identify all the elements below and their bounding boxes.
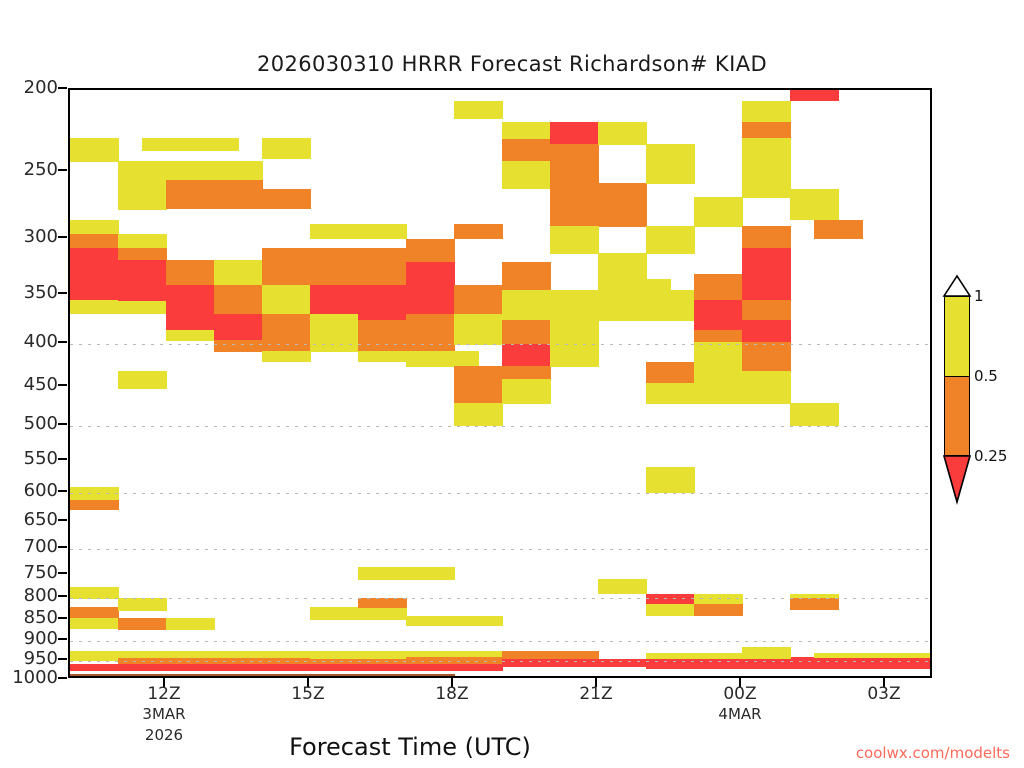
colorbar[interactable]: 10.50.25 — [944, 296, 970, 456]
y-axis-tick-label: 900 — [0, 628, 58, 649]
heatmap-cell — [310, 285, 359, 315]
heatmap-cell — [502, 122, 551, 139]
y-axis-tick — [58, 458, 67, 460]
y-axis-tick — [58, 546, 67, 548]
x-axis-tick-label: 03Z — [867, 684, 900, 704]
x-axis-tick-label: 15Z — [291, 684, 324, 704]
x-axis-date-label: 4MAR — [718, 705, 761, 723]
heatmap-cell — [406, 239, 455, 263]
heatmap-cell — [118, 161, 167, 210]
colorbar-segment — [944, 296, 970, 376]
heatmap-cell — [646, 144, 695, 183]
heatmap-cell — [166, 285, 215, 331]
colorbar-tick-label: 0.25 — [974, 447, 1007, 465]
heatmap-cell — [742, 342, 791, 371]
heatmap-cells — [70, 90, 930, 676]
heatmap-cell — [262, 248, 359, 285]
heatmap-cell — [502, 262, 551, 290]
heatmap-cell — [694, 604, 743, 616]
heatmap-cell — [118, 234, 167, 249]
heatmap-cell — [550, 144, 599, 183]
heatmap-cell — [502, 320, 551, 344]
heatmap-cell — [70, 248, 119, 301]
heatmap-cell — [406, 616, 503, 626]
y-axis-tick-label: 550 — [0, 448, 58, 469]
y-axis-tick — [58, 638, 67, 640]
y-axis-tick-label: 350 — [0, 282, 58, 303]
heatmap-cell — [502, 138, 551, 162]
heatmap-cell — [70, 220, 119, 234]
heatmap-cell — [214, 260, 263, 285]
colorbar-tick-label: 0.5 — [974, 367, 998, 385]
heatmap-cell — [502, 366, 551, 379]
heatmap-cell — [646, 653, 791, 658]
heatmap-cell — [118, 260, 167, 301]
y-axis-tick-label: 600 — [0, 480, 58, 501]
heatmap-cell — [742, 226, 791, 249]
heatmap-cell — [358, 320, 407, 351]
y-axis-tick-label: 200 — [0, 77, 58, 98]
y-axis-tick-label: 500 — [0, 413, 58, 434]
heatmap-cell — [454, 403, 503, 426]
heatmap-cell — [262, 189, 311, 209]
heatmap-cell — [598, 122, 647, 145]
heatmap-cell — [70, 300, 167, 314]
heatmap-cell — [790, 88, 839, 101]
y-axis-tick — [58, 572, 67, 574]
heatmap-cell — [502, 344, 551, 367]
heatmap-cell — [694, 330, 743, 343]
heatmap-cell — [310, 314, 359, 352]
heatmap-cell — [694, 300, 743, 330]
heatmap-cell — [694, 274, 743, 301]
heatmap-cell — [214, 285, 263, 315]
heatmap-cell — [406, 351, 479, 366]
y-axis-tick — [58, 169, 67, 171]
heatmap-cell — [742, 320, 791, 342]
heatmap-cell — [166, 179, 263, 209]
y-axis-tick — [58, 341, 67, 343]
heatmap-cell — [646, 467, 695, 493]
y-axis-tick-label: 250 — [0, 159, 58, 180]
heatmap-cell — [790, 189, 839, 220]
heatmap-cell — [214, 314, 263, 341]
terrain-surface — [454, 676, 647, 678]
y-axis-tick-label: 700 — [0, 536, 58, 557]
y-axis-tick — [58, 677, 67, 679]
heatmap-cell — [358, 285, 407, 321]
x-axis-tick-label: 18Z — [435, 684, 468, 704]
x-axis-date-label: 3MAR — [142, 705, 185, 723]
heatmap-cell — [358, 567, 455, 580]
heatmap-cell — [646, 657, 932, 668]
heatmap-cell — [694, 594, 743, 605]
heatmap-cell — [646, 594, 695, 605]
y-axis-tick-label: 400 — [0, 331, 58, 352]
heatmap-cell — [70, 607, 119, 619]
heatmap-cell — [622, 279, 671, 296]
heatmap-cell — [454, 224, 503, 239]
heatmap-cell — [118, 248, 167, 260]
y-axis-tick — [58, 87, 67, 89]
heatmap-cell — [694, 197, 743, 226]
terrain-surface — [70, 674, 455, 678]
heatmap-cell — [646, 383, 695, 404]
x-axis-title: Forecast Time (UTC) — [150, 733, 670, 761]
heatmap-cell — [262, 285, 311, 315]
x-axis-tick-label: 21Z — [579, 684, 612, 704]
heatmap-cell — [118, 598, 167, 611]
heatmap-cell — [70, 138, 119, 162]
heatmap-cell — [646, 226, 695, 253]
heatmap-cell — [70, 500, 119, 510]
heatmap-cell — [262, 138, 311, 159]
heatmap-cell — [70, 671, 932, 674]
heatmap-cell — [742, 371, 791, 404]
heatmap-cell — [166, 618, 215, 630]
heatmap-cell — [166, 260, 215, 285]
colorbar-segment — [944, 376, 970, 456]
heatmap-cell — [310, 224, 407, 239]
heatmap-cell — [406, 262, 455, 314]
heatmap-cell — [142, 138, 239, 151]
colorbar-tick-label: 1 — [974, 287, 984, 305]
heatmap-cell — [742, 300, 791, 321]
heatmap-cell — [646, 604, 695, 616]
heatmap-cell — [262, 351, 311, 362]
heatmap-cell — [70, 234, 119, 249]
chart-canvas: 2026030310 HRRR Forecast Richardson# KIA… — [0, 0, 1024, 768]
y-axis-tick — [58, 490, 67, 492]
y-axis-tick — [58, 595, 67, 597]
heatmap-cell — [70, 487, 119, 501]
heatmap-cell — [358, 248, 407, 285]
terrain-surface — [646, 676, 932, 678]
y-axis-tick-label: 800 — [0, 585, 58, 606]
y-axis-tick — [58, 617, 67, 619]
y-axis-tick-label: 850 — [0, 607, 58, 628]
heatmap-cell — [118, 618, 167, 630]
y-axis-tick — [58, 519, 67, 521]
heatmap-cell — [310, 607, 407, 620]
heatmap-cell — [742, 101, 791, 122]
heatmap-cell — [742, 122, 791, 139]
heatmap-cell — [118, 371, 167, 390]
heatmap-cell — [814, 220, 863, 239]
x-axis-tick-label: 12Z — [147, 684, 180, 704]
heatmap-cell — [70, 618, 119, 628]
heatmap-cell — [358, 351, 407, 362]
heatmap-cell — [550, 183, 647, 226]
heatmap-cell — [166, 161, 263, 179]
heatmap-cell — [214, 340, 263, 351]
heatmap-cell — [166, 330, 215, 341]
heatmap-plot-area — [68, 88, 932, 678]
heatmap-cell — [742, 274, 791, 301]
y-axis-tick-label: 750 — [0, 562, 58, 583]
y-axis-tick — [58, 658, 67, 660]
y-axis-tick-label: 650 — [0, 509, 58, 530]
heatmap-cell — [70, 651, 119, 661]
heatmap-cell — [262, 314, 311, 352]
y-axis-tick-label: 1000 — [0, 667, 58, 688]
heatmap-cell — [790, 403, 839, 426]
heatmap-cell — [454, 314, 503, 345]
heatmap-cell — [70, 587, 119, 599]
y-axis-tick — [58, 384, 67, 386]
heatmap-cell — [454, 285, 503, 315]
y-axis-tick-label: 450 — [0, 374, 58, 395]
heatmap-cell — [502, 161, 551, 189]
heatmap-cell — [694, 366, 743, 403]
heatmap-cell — [502, 659, 647, 667]
heatmap-cell — [598, 579, 647, 594]
y-axis-tick-label: 300 — [0, 226, 58, 247]
heatmap-cell — [646, 362, 695, 384]
chart-title: 2026030310 HRRR Forecast Richardson# KIA… — [0, 52, 1024, 76]
heatmap-cell — [358, 598, 407, 608]
heatmap-cell — [502, 290, 551, 321]
heatmap-cell — [454, 101, 503, 119]
heatmap-cell — [790, 598, 839, 610]
x-axis-tick-label: 00Z — [723, 684, 756, 704]
watermark: coolwx.com/modelts — [856, 744, 1010, 762]
heatmap-cell — [550, 226, 599, 253]
heatmap-cell — [406, 314, 455, 352]
heatmap-cell — [742, 138, 791, 160]
heatmap-cell — [814, 653, 932, 658]
y-axis-tick — [58, 236, 67, 238]
heatmap-cell — [502, 379, 551, 404]
heatmap-cell — [742, 160, 791, 198]
heatmap-cell — [742, 248, 791, 274]
y-axis-tick — [58, 292, 67, 294]
y-axis-tick — [58, 423, 67, 425]
heatmap-cell — [550, 122, 599, 145]
heatmap-cell — [550, 320, 599, 366]
